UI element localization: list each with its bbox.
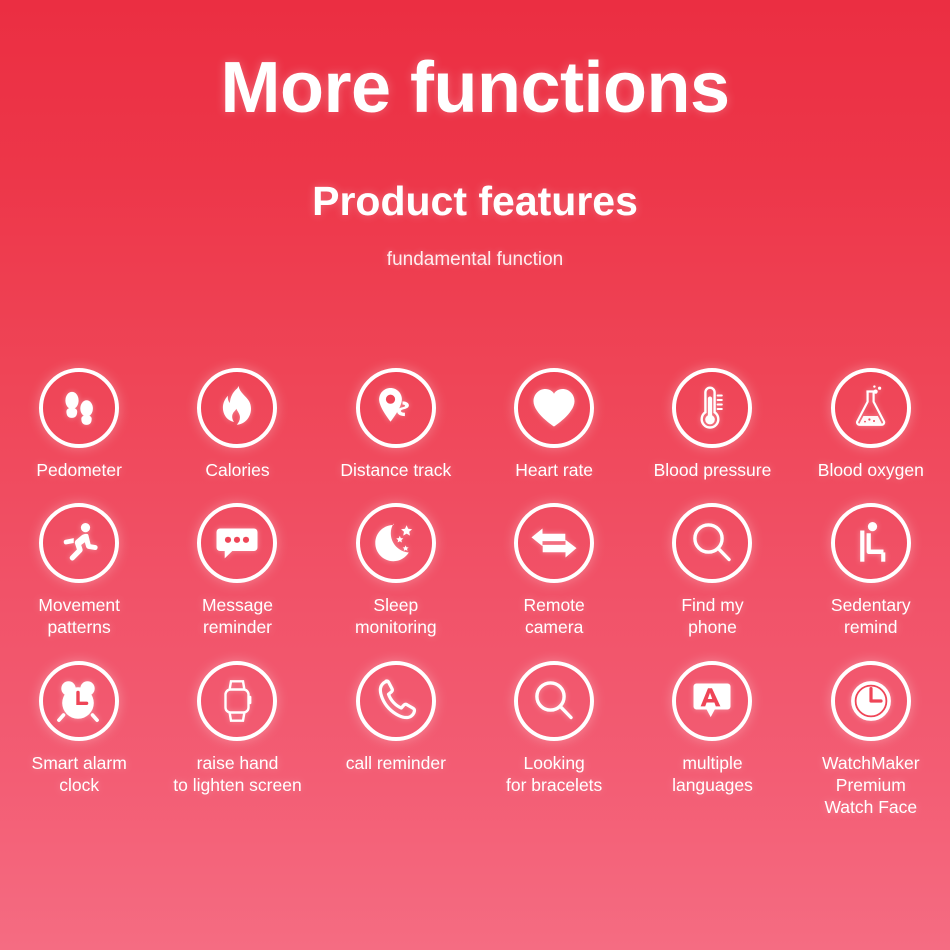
feature-label: Heart rate [515, 459, 593, 481]
feature-label: Smart alarm clock [32, 752, 127, 796]
magnifier-icon [672, 503, 752, 583]
feature-label: Remote camera [524, 594, 585, 638]
feature-label: raise hand to lighten screen [173, 752, 301, 796]
thermometer-icon [672, 368, 752, 448]
page-subtitle: Product features [0, 124, 950, 222]
feature-label: Distance track [340, 459, 451, 481]
letter-a-bubble-icon [672, 661, 752, 741]
product-feature-poster: More functions Product features fundamen… [0, 0, 950, 950]
feature-label: Looking for bracelets [506, 752, 602, 796]
feature-grid: Pedometer Calories Dis [0, 368, 950, 818]
feature-item-find-my-phone[interactable]: Find my phone [633, 503, 791, 638]
feature-label: Movement patterns [38, 594, 120, 638]
feature-item-call-reminder[interactable]: call reminder [317, 661, 475, 818]
speech-bubble-icon [197, 503, 277, 583]
footprints-icon [39, 368, 119, 448]
map-pin-path-icon [356, 368, 436, 448]
page-title: More functions [0, 0, 950, 124]
flask-icon [831, 368, 911, 448]
feature-label: Find my phone [681, 594, 743, 638]
smartwatch-icon [197, 661, 277, 741]
feature-item-pedometer[interactable]: Pedometer [0, 368, 158, 481]
moon-stars-icon [356, 503, 436, 583]
feature-item-sleep-monitoring[interactable]: Sleep monitoring [317, 503, 475, 638]
magnifier-icon [514, 661, 594, 741]
clock-face-icon [831, 661, 911, 741]
feature-item-calories[interactable]: Calories [158, 368, 316, 481]
heart-icon [514, 368, 594, 448]
feature-label: Calories [205, 459, 269, 481]
feature-label: WatchMaker Premium Watch Face [822, 752, 920, 818]
feature-item-blood-oxygen[interactable]: Blood oxygen [792, 368, 950, 481]
feature-label: Pedometer [36, 459, 122, 481]
feature-item-distance-track[interactable]: Distance track [317, 368, 475, 481]
feature-row: Movement patterns Message reminder [0, 503, 950, 638]
page-caption: fundamental function [0, 222, 950, 269]
feature-label: Blood pressure [654, 459, 772, 481]
feature-label: Message reminder [202, 594, 273, 638]
feature-item-message-reminder[interactable]: Message reminder [158, 503, 316, 638]
feature-item-looking-for-bracelets[interactable]: Looking for bracelets [475, 661, 633, 818]
feature-item-watchmaker[interactable]: WatchMaker Premium Watch Face [792, 661, 950, 818]
feature-item-sedentary-remind[interactable]: Sedentary remind [792, 503, 950, 638]
feature-item-movement-patterns[interactable]: Movement patterns [0, 503, 158, 638]
feature-label: Sleep monitoring [355, 594, 437, 638]
poster-headings: More functions Product features fundamen… [0, 0, 950, 269]
feature-row: Smart alarm clock raise hand to lighten … [0, 661, 950, 818]
feature-row: Pedometer Calories Dis [0, 368, 950, 481]
flame-icon [197, 368, 277, 448]
feature-item-blood-pressure[interactable]: Blood pressure [633, 368, 791, 481]
alarm-clock-icon [39, 661, 119, 741]
feature-item-multiple-languages[interactable]: multiple languages [633, 661, 791, 818]
feature-item-heart-rate[interactable]: Heart rate [475, 368, 633, 481]
two-arrows-icon [514, 503, 594, 583]
feature-label: call reminder [346, 752, 446, 774]
seated-person-icon [831, 503, 911, 583]
feature-label: multiple languages [672, 752, 753, 796]
running-person-icon [39, 503, 119, 583]
phone-handset-icon [356, 661, 436, 741]
feature-label: Blood oxygen [818, 459, 924, 481]
feature-item-smart-alarm-clock[interactable]: Smart alarm clock [0, 661, 158, 818]
feature-item-remote-camera[interactable]: Remote camera [475, 503, 633, 638]
feature-label: Sedentary remind [831, 594, 911, 638]
feature-item-raise-hand[interactable]: raise hand to lighten screen [158, 661, 316, 818]
